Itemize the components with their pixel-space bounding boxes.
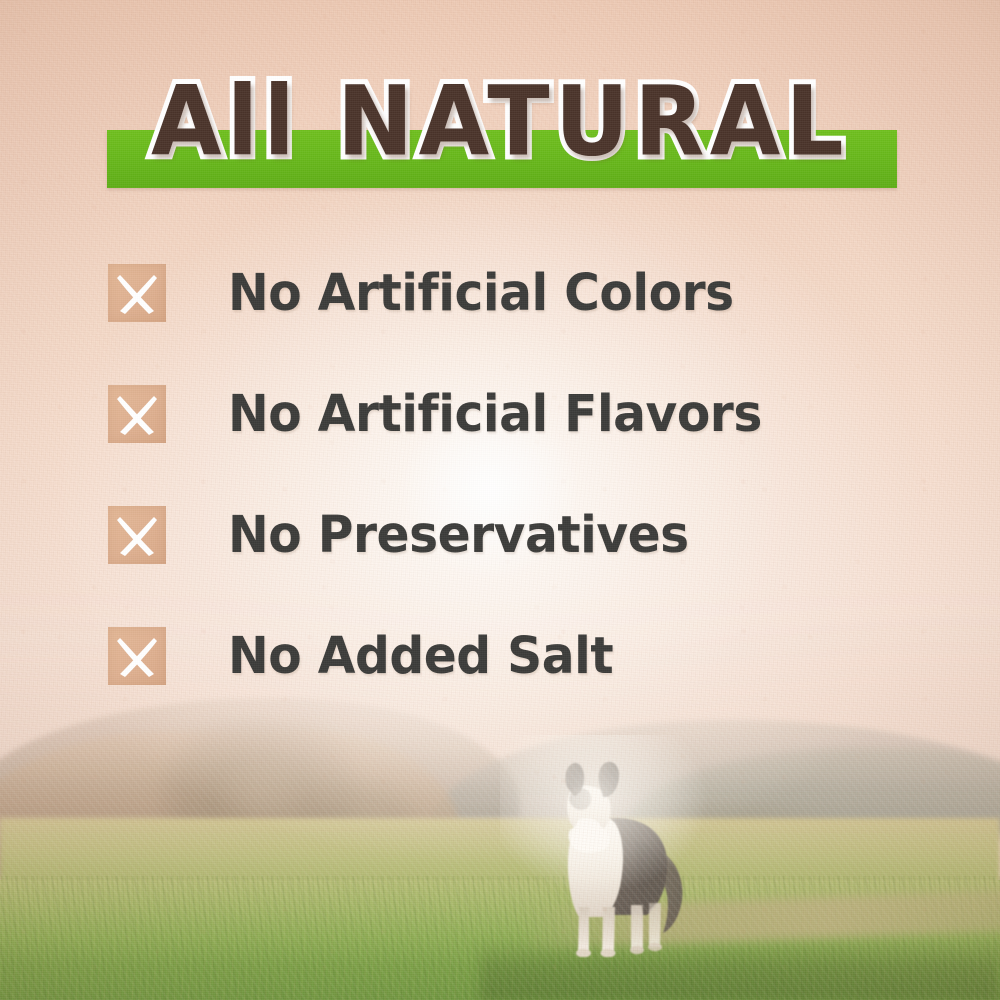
claim-label: No Preservatives xyxy=(228,510,689,561)
x-mark-icon xyxy=(108,627,166,685)
claim-label: No Artificial Flavors xyxy=(228,389,762,440)
claims-list: No Artificial Colors No Artificial Flavo… xyxy=(108,262,948,687)
claim-item-no-added-salt: No Added Salt xyxy=(108,625,948,687)
x-mark-icon xyxy=(108,506,166,564)
all-natural-product-banner: All NATURAL No Artificial Colors No Arti… xyxy=(0,0,1000,1000)
claim-item-no-artificial-flavors: No Artificial Flavors xyxy=(108,383,948,445)
claim-item-no-artificial-colors: No Artificial Colors xyxy=(108,262,948,324)
headline-block: All NATURAL xyxy=(0,74,1000,199)
claim-label: No Artificial Colors xyxy=(228,268,734,319)
x-mark-icon xyxy=(108,264,166,322)
claim-label: No Added Salt xyxy=(228,631,613,682)
headline-text: All NATURAL xyxy=(0,74,1000,170)
x-mark-icon xyxy=(108,385,166,443)
claim-item-no-preservatives: No Preservatives xyxy=(108,504,948,566)
